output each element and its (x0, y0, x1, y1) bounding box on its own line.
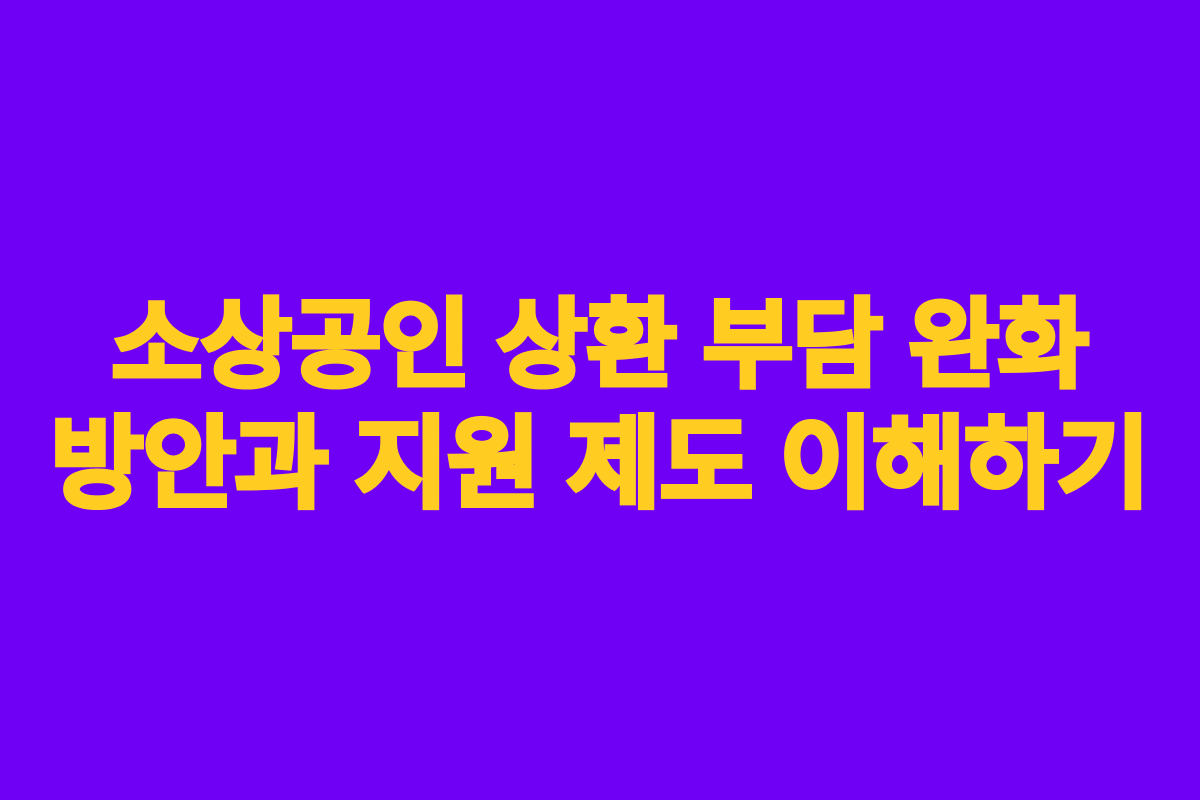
title-line-2: 방안과 지원 제도 이해하기 (0, 412, 1200, 516)
thumbnail-card: 소상공인 상환 부담 완화 방안과 지원 제도 이해하기 (0, 0, 1200, 800)
title-line-1: 소상공인 상환 부담 완화 (0, 294, 1200, 398)
page-title: 소상공인 상환 부담 완화 방안과 지원 제도 이해하기 (0, 294, 1200, 516)
